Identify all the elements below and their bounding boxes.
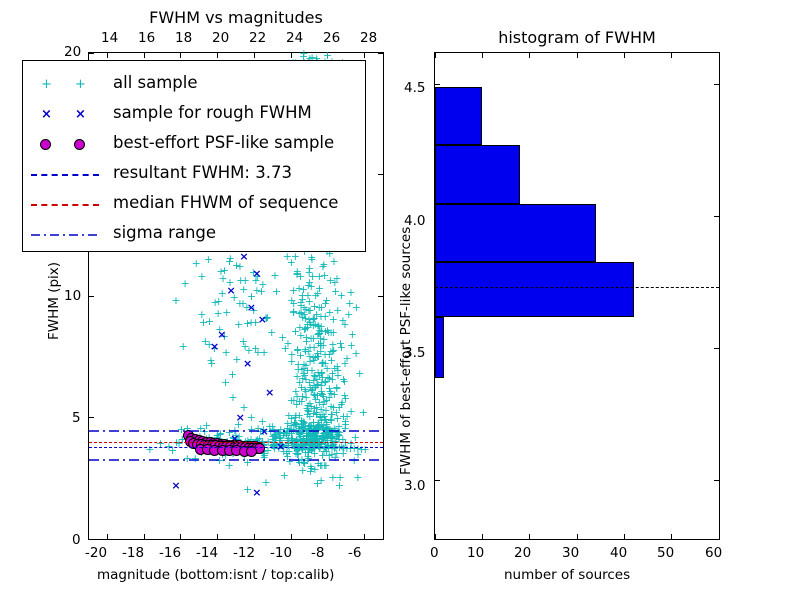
- scatter-point-all: +: [338, 397, 347, 408]
- scatter-point-all: +: [326, 275, 335, 286]
- scatter-point-all: +: [313, 351, 322, 362]
- scatter-point-all: +: [243, 318, 252, 329]
- scatter-point-all: +: [292, 435, 301, 446]
- scatter-point-all: +: [228, 392, 237, 403]
- scatter-point-all: +: [320, 377, 329, 388]
- scatter-point-all: +: [304, 280, 313, 291]
- scatter-point-all: +: [323, 432, 332, 443]
- scatter-point-all: +: [244, 345, 253, 356]
- scatter-point-all: +: [246, 317, 255, 328]
- scatter-point-all: +: [321, 326, 330, 337]
- scatter-point-all: +: [336, 338, 345, 349]
- scatter-point-all: +: [220, 331, 229, 342]
- scatter-point-all: +: [205, 316, 214, 327]
- scatter-point-all: +: [315, 271, 324, 282]
- scatter-point-all: +: [253, 347, 262, 358]
- scatter-point-all: +: [318, 409, 327, 420]
- scatter-point-all: +: [328, 472, 337, 483]
- scatter-point-all: +: [295, 396, 304, 407]
- scatter-point-all: +: [225, 277, 234, 288]
- legend-marker-sigma-range: [23, 221, 107, 249]
- scatter-point-all: +: [303, 365, 312, 376]
- hist-x-tick-mark-top: [719, 53, 720, 58]
- scatter-point-all: +: [322, 295, 331, 306]
- scatter-point-all: +: [298, 373, 307, 384]
- scatter-point-all: +: [325, 392, 334, 403]
- scatter-point-all: +: [311, 352, 320, 363]
- scatter-point-all: +: [315, 411, 324, 422]
- scatter-point-all: +: [283, 338, 292, 349]
- scatter-point-all: +: [322, 395, 331, 406]
- histogram-axes: [434, 52, 720, 540]
- scatter-point-rough: ×: [171, 480, 180, 491]
- scatter-point-all: +: [300, 384, 309, 395]
- scatter-x-tick-mark: [107, 534, 108, 539]
- scatter-point-all: +: [317, 302, 326, 313]
- scatter-point-all: +: [276, 435, 285, 446]
- scatter-point-all: +: [305, 317, 314, 328]
- scatter-point-all: +: [218, 288, 227, 299]
- scatter-point-all: +: [308, 443, 317, 454]
- scatter-point-all: +: [312, 374, 321, 385]
- scatter-point-all: +: [309, 408, 318, 419]
- scatter-point-all: +: [309, 375, 318, 386]
- scatter-point-rough: ×: [247, 302, 256, 313]
- hist-y-tick-mark: [435, 84, 440, 85]
- legend-row-4: median FHWM of sequence: [23, 191, 365, 219]
- scatter-point-all: +: [315, 283, 324, 294]
- scatter-point-psf: [251, 443, 262, 454]
- scatter-point-all: +: [297, 443, 306, 454]
- scatter-point-all: +: [293, 344, 302, 355]
- scatter-point-all: +: [199, 317, 208, 328]
- scatter-point-all: +: [278, 332, 287, 343]
- scatter-top-tick-mark: [217, 53, 218, 58]
- hist-y-tick-mark-right: [714, 480, 719, 481]
- scatter-point-all: +: [336, 472, 345, 483]
- hist-y-tick-3: 4.5: [404, 80, 425, 96]
- legend-marker-resultant-fwhm: [23, 161, 107, 189]
- scatter-point-all: +: [307, 254, 316, 265]
- hist-x-tick-mark-top: [435, 53, 436, 58]
- scatter-top-tick-3: 20: [212, 30, 229, 46]
- scatter-point-all: +: [305, 411, 314, 422]
- scatter-point-all: +: [287, 349, 296, 360]
- hist-x-tick-1: 10: [467, 545, 484, 561]
- scatter-top-tick-7: 28: [360, 30, 377, 46]
- scatter-point-all: +: [339, 374, 348, 385]
- scatter-point-all: +: [328, 368, 337, 379]
- scatter-point-all: +: [345, 298, 354, 309]
- scatter-point-all: +: [346, 287, 355, 298]
- scatter-point-all: +: [337, 290, 346, 301]
- scatter-point-all: +: [312, 407, 321, 418]
- scatter-point-all: +: [197, 447, 206, 458]
- hist-y-tick-0: 3.0: [404, 478, 425, 494]
- scatter-point-all: +: [307, 385, 316, 396]
- scatter-point-all: +: [291, 410, 300, 421]
- scatter-point-all: +: [305, 263, 314, 274]
- scatter-point-all: +: [178, 434, 187, 445]
- scatter-point-all: +: [330, 363, 339, 374]
- scatter-point-all: +: [299, 416, 308, 427]
- legend-marker-median-fwhm: [23, 191, 107, 219]
- legend-label-4: median FHWM of sequence: [113, 193, 338, 212]
- scatter-point-all: +: [297, 382, 306, 393]
- scatter-point-all: +: [310, 342, 319, 353]
- scatter-x-tick-mark: [217, 534, 218, 539]
- scatter-point-all: +: [329, 345, 338, 356]
- scatter-point-all: +: [242, 302, 251, 313]
- hist-x-tick-3: 30: [562, 545, 579, 561]
- scatter-point-all: +: [207, 358, 216, 369]
- scatter-point-psf: [194, 435, 205, 446]
- scatter-point-all: +: [302, 392, 311, 403]
- scatter-point-all: +: [258, 416, 267, 427]
- scatter-top-tick-mark: [144, 53, 145, 58]
- scatter-point-all: +: [301, 304, 310, 315]
- scatter-sigma-range-line: [89, 458, 383, 462]
- scatter-point-all: +: [247, 447, 256, 458]
- scatter-y-tick-mark-right: [378, 539, 383, 540]
- scatter-point-all: +: [222, 307, 231, 318]
- scatter-point-all: +: [353, 472, 362, 483]
- scatter-point-all: +: [296, 350, 305, 361]
- scatter-point-all: +: [333, 305, 342, 316]
- scatter-point-all: +: [321, 311, 330, 322]
- histogram-bar: [435, 204, 596, 262]
- scatter-point-all: +: [299, 363, 308, 374]
- scatter-point-all: +: [325, 349, 334, 360]
- scatter-point-all: +: [332, 407, 341, 418]
- scatter-point-all: +: [284, 410, 293, 421]
- scatter-point-all: +: [283, 251, 292, 262]
- scatter-point-all: +: [306, 333, 315, 344]
- scatter-point-all: +: [310, 313, 319, 324]
- scatter-point-all: +: [293, 445, 302, 456]
- scatter-y-axis-label: FWHM (pix): [46, 262, 62, 340]
- scatter-x-tick-0: -20: [85, 545, 107, 561]
- scatter-point-all: +: [304, 447, 313, 458]
- scatter-point-all: +: [301, 344, 310, 355]
- scatter-point-all: +: [260, 448, 269, 459]
- scatter-point-all: +: [292, 434, 301, 445]
- scatter-sigma-range-line: [89, 429, 383, 433]
- scatter-point-all: +: [296, 271, 305, 282]
- scatter-point-all: +: [249, 267, 258, 278]
- scatter-point-all: +: [316, 412, 325, 423]
- scatter-point-all: +: [312, 409, 321, 420]
- scatter-point-all: +: [318, 434, 327, 445]
- scatter-point-all: +: [303, 322, 312, 333]
- scatter-point-all: +: [353, 443, 362, 454]
- scatter-point-all: +: [202, 435, 211, 446]
- scatter-point-all: +: [327, 409, 336, 420]
- scatter-point-all: +: [197, 309, 206, 320]
- scatter-point-all: +: [300, 309, 309, 320]
- scatter-point-all: +: [298, 294, 307, 305]
- scatter-y-tick-mark-right: [378, 53, 383, 54]
- scatter-point-all: +: [320, 411, 329, 422]
- scatter-point-all: +: [239, 402, 248, 413]
- scatter-point-all: +: [310, 301, 319, 312]
- scatter-x-tick-mark: [327, 534, 328, 539]
- scatter-point-all: +: [235, 261, 244, 272]
- scatter-median-fwhm-line: [89, 442, 383, 443]
- scatter-point-all: +: [295, 377, 304, 388]
- scatter-point-all: +: [312, 409, 321, 420]
- legend-label-5: sigma range: [113, 223, 216, 242]
- scatter-point-all: +: [305, 444, 314, 455]
- scatter-point-all: +: [232, 260, 241, 271]
- scatter-point-all: +: [320, 349, 329, 360]
- scatter-point-all: +: [329, 256, 338, 267]
- scatter-point-all: +: [315, 434, 324, 445]
- scatter-point-all: +: [303, 290, 312, 301]
- scatter-point-all: +: [313, 329, 322, 340]
- scatter-y-tick-mark: [89, 296, 94, 297]
- scatter-y-tick-mark: [89, 417, 94, 418]
- scatter-point-rough: ×: [239, 251, 248, 262]
- scatter-point-rough: ×: [252, 268, 261, 279]
- scatter-point-all: +: [226, 253, 235, 264]
- scatter-point-all: +: [292, 443, 301, 454]
- scatter-point-all: +: [171, 295, 180, 306]
- scatter-point-all: +: [299, 302, 308, 313]
- scatter-point-all: +: [271, 431, 280, 442]
- scatter-point-all: +: [204, 254, 213, 265]
- legend-row-0: + + all sample: [23, 71, 365, 99]
- scatter-point-all: +: [333, 365, 342, 376]
- hist-x-tick-mark: [671, 534, 672, 539]
- scatter-point-all: +: [297, 364, 306, 375]
- scatter-point-all: +: [327, 431, 336, 442]
- scatter-point-all: +: [319, 334, 328, 345]
- scatter-point-all: +: [333, 413, 342, 424]
- scatter-point-all: +: [340, 358, 349, 369]
- scatter-point-all: +: [320, 414, 329, 425]
- scatter-point-all: +: [295, 308, 304, 319]
- scatter-point-all: +: [305, 377, 314, 388]
- scatter-point-all: +: [250, 444, 259, 455]
- scatter-point-all: +: [321, 358, 330, 369]
- scatter-point-all: +: [323, 372, 332, 383]
- scatter-x-tick-mark: [144, 534, 145, 539]
- scatter-point-all: +: [197, 271, 206, 282]
- scatter-point-all: +: [298, 290, 307, 301]
- scatter-point-all: +: [309, 333, 318, 344]
- scatter-point-all: +: [216, 266, 225, 277]
- scatter-x-tick-3: -14: [196, 545, 218, 561]
- scatter-point-all: +: [306, 319, 315, 330]
- scatter-point-all: +: [352, 302, 361, 313]
- scatter-point-all: +: [289, 306, 298, 317]
- scatter-point-all: +: [206, 355, 215, 366]
- scatter-point-all: +: [214, 296, 223, 307]
- scatter-point-all: +: [330, 277, 339, 288]
- scatter-x-tick-7: -6: [348, 545, 361, 561]
- scatter-point-all: +: [317, 377, 326, 388]
- legend-box: + + all sample × × sample for rough FWHM…: [22, 60, 366, 252]
- scatter-point-all: +: [305, 296, 314, 307]
- scatter-point-all: +: [302, 403, 311, 414]
- scatter-point-all: +: [308, 271, 317, 282]
- scatter-point-all: +: [293, 345, 302, 356]
- scatter-point-all: +: [317, 358, 326, 369]
- scatter-point-all: +: [326, 414, 335, 425]
- scatter-point-all: +: [201, 443, 210, 454]
- histogram-bar: [435, 87, 482, 145]
- scatter-point-all: +: [313, 288, 322, 299]
- scatter-point-rough: ×: [265, 387, 274, 398]
- scatter-point-all: +: [304, 305, 313, 316]
- hist-x-tick-6: 60: [705, 545, 722, 561]
- scatter-point-all: +: [271, 435, 280, 446]
- scatter-point-all: +: [350, 443, 359, 454]
- scatter-point-all: +: [309, 389, 318, 400]
- hist-x-tick-mark-top: [529, 53, 530, 58]
- scatter-point-all: +: [351, 348, 360, 359]
- scatter-point-all: +: [307, 443, 316, 454]
- scatter-top-tick-0: 14: [101, 30, 118, 46]
- scatter-point-all: +: [290, 417, 299, 428]
- scatter-point-all: +: [252, 435, 261, 446]
- scatter-point-all: +: [201, 336, 210, 347]
- scatter-point-all: +: [236, 275, 245, 286]
- scatter-point-all: +: [344, 309, 353, 320]
- scatter-point-all: +: [333, 370, 342, 381]
- scatter-point-all: +: [243, 484, 252, 495]
- scatter-point-all: +: [317, 404, 326, 415]
- scatter-point-all: +: [299, 359, 308, 370]
- scatter-point-all: +: [211, 297, 220, 308]
- scatter-point-all: +: [300, 417, 309, 428]
- hist-x-tick-5: 50: [657, 545, 674, 561]
- scatter-point-all: +: [304, 314, 313, 325]
- scatter-top-tick-6: 26: [323, 30, 340, 46]
- scatter-point-all: +: [316, 338, 325, 349]
- scatter-point-all: +: [253, 434, 262, 445]
- scatter-point-all: +: [317, 415, 326, 426]
- scatter-point-all: +: [235, 298, 244, 309]
- scatter-point-all: +: [239, 284, 248, 295]
- scatter-point-all: +: [205, 339, 214, 350]
- scatter-point-all: +: [351, 432, 360, 443]
- scatter-point-all: +: [302, 336, 311, 347]
- scatter-point-all: +: [297, 415, 306, 426]
- scatter-point-all: +: [230, 292, 239, 303]
- scatter-point-all: +: [301, 374, 310, 385]
- scatter-point-all: +: [305, 277, 314, 288]
- legend-label-1: sample for rough FWHM: [113, 103, 312, 122]
- scatter-point-all: +: [315, 325, 324, 336]
- scatter-y-tick-0: 0: [72, 532, 81, 548]
- scatter-point-all: +: [305, 305, 314, 316]
- scatter-point-rough: ×: [258, 314, 267, 325]
- scatter-point-all: +: [305, 431, 314, 442]
- scatter-point-all: +: [300, 370, 309, 381]
- scatter-point-all: +: [305, 443, 314, 454]
- scatter-point-all: +: [317, 380, 326, 391]
- scatter-point-psf: [202, 444, 213, 455]
- scatter-point-all: +: [239, 336, 248, 347]
- scatter-point-all: +: [299, 284, 308, 295]
- scatter-top-tick-2: 18: [175, 30, 192, 46]
- scatter-point-all: +: [281, 343, 290, 354]
- scatter-point-all: +: [340, 319, 349, 330]
- scatter-resultant-fwhm-line: [89, 447, 383, 448]
- hist-x-tick-mark-top: [624, 53, 625, 58]
- scatter-point-all: +: [296, 434, 305, 445]
- hist-y-tick-mark-right: [714, 348, 719, 349]
- scatter-point-all: +: [301, 386, 310, 397]
- scatter-point-all: +: [321, 298, 330, 309]
- scatter-point-all: +: [322, 363, 331, 374]
- scatter-point-all: +: [310, 464, 319, 475]
- scatter-point-all: +: [287, 413, 296, 424]
- scatter-point-all: +: [220, 265, 229, 276]
- scatter-point-all: +: [324, 327, 333, 338]
- scatter-point-all: +: [251, 275, 260, 286]
- legend-row-3: resultant FWHM: 3.73: [23, 161, 365, 189]
- scatter-point-all: +: [297, 308, 306, 319]
- scatter-point-all: +: [317, 386, 326, 397]
- scatter-point-all: +: [332, 382, 341, 393]
- scatter-point-all: +: [318, 389, 327, 400]
- scatter-y-tick-mark-right: [378, 296, 383, 297]
- scatter-point-all: +: [326, 327, 335, 338]
- scatter-point-all: +: [301, 323, 310, 334]
- scatter-top-tick-mark: [254, 53, 255, 58]
- scatter-point-rough: ×: [243, 358, 252, 369]
- scatter-point-all: +: [168, 445, 177, 456]
- scatter-point-all: +: [299, 368, 308, 379]
- scatter-point-all: +: [316, 346, 325, 357]
- scatter-point-all: +: [341, 416, 350, 427]
- scatter-point-all: +: [341, 393, 350, 404]
- scatter-point-all: +: [319, 399, 328, 410]
- scatter-point-all: +: [243, 435, 252, 446]
- hist-title: histogram of FWHM: [434, 28, 720, 47]
- scatter-point-all: +: [313, 478, 322, 489]
- scatter-point-all: +: [282, 448, 291, 459]
- scatter-point-all: +: [329, 402, 338, 413]
- scatter-point-all: +: [308, 352, 317, 363]
- scatter-point-all: +: [306, 461, 315, 472]
- scatter-point-all: +: [311, 435, 320, 446]
- scatter-point-all: +: [215, 324, 224, 335]
- scatter-title: FWHM vs magnitudes: [88, 8, 384, 27]
- scatter-point-all: +: [310, 390, 319, 401]
- scatter-point-all: +: [298, 439, 307, 450]
- scatter-point-all: +: [329, 314, 338, 325]
- scatter-point-all: +: [272, 286, 281, 297]
- hist-x-tick-mark: [624, 534, 625, 539]
- scatter-point-all: +: [280, 470, 289, 481]
- scatter-point-all: +: [258, 279, 267, 290]
- scatter-point-all: +: [316, 340, 325, 351]
- scatter-x-tick-mark: [364, 534, 365, 539]
- scatter-top-tick-1: 16: [138, 30, 155, 46]
- scatter-point-all: +: [305, 398, 314, 409]
- scatter-point-all: +: [301, 346, 310, 357]
- scatter-point-all: +: [262, 313, 271, 324]
- scatter-point-all: +: [307, 365, 316, 376]
- scatter-point-all: +: [294, 359, 303, 370]
- scatter-top-tick-4: 22: [249, 30, 266, 46]
- scatter-point-all: +: [145, 444, 154, 455]
- histogram-bar: [435, 317, 444, 378]
